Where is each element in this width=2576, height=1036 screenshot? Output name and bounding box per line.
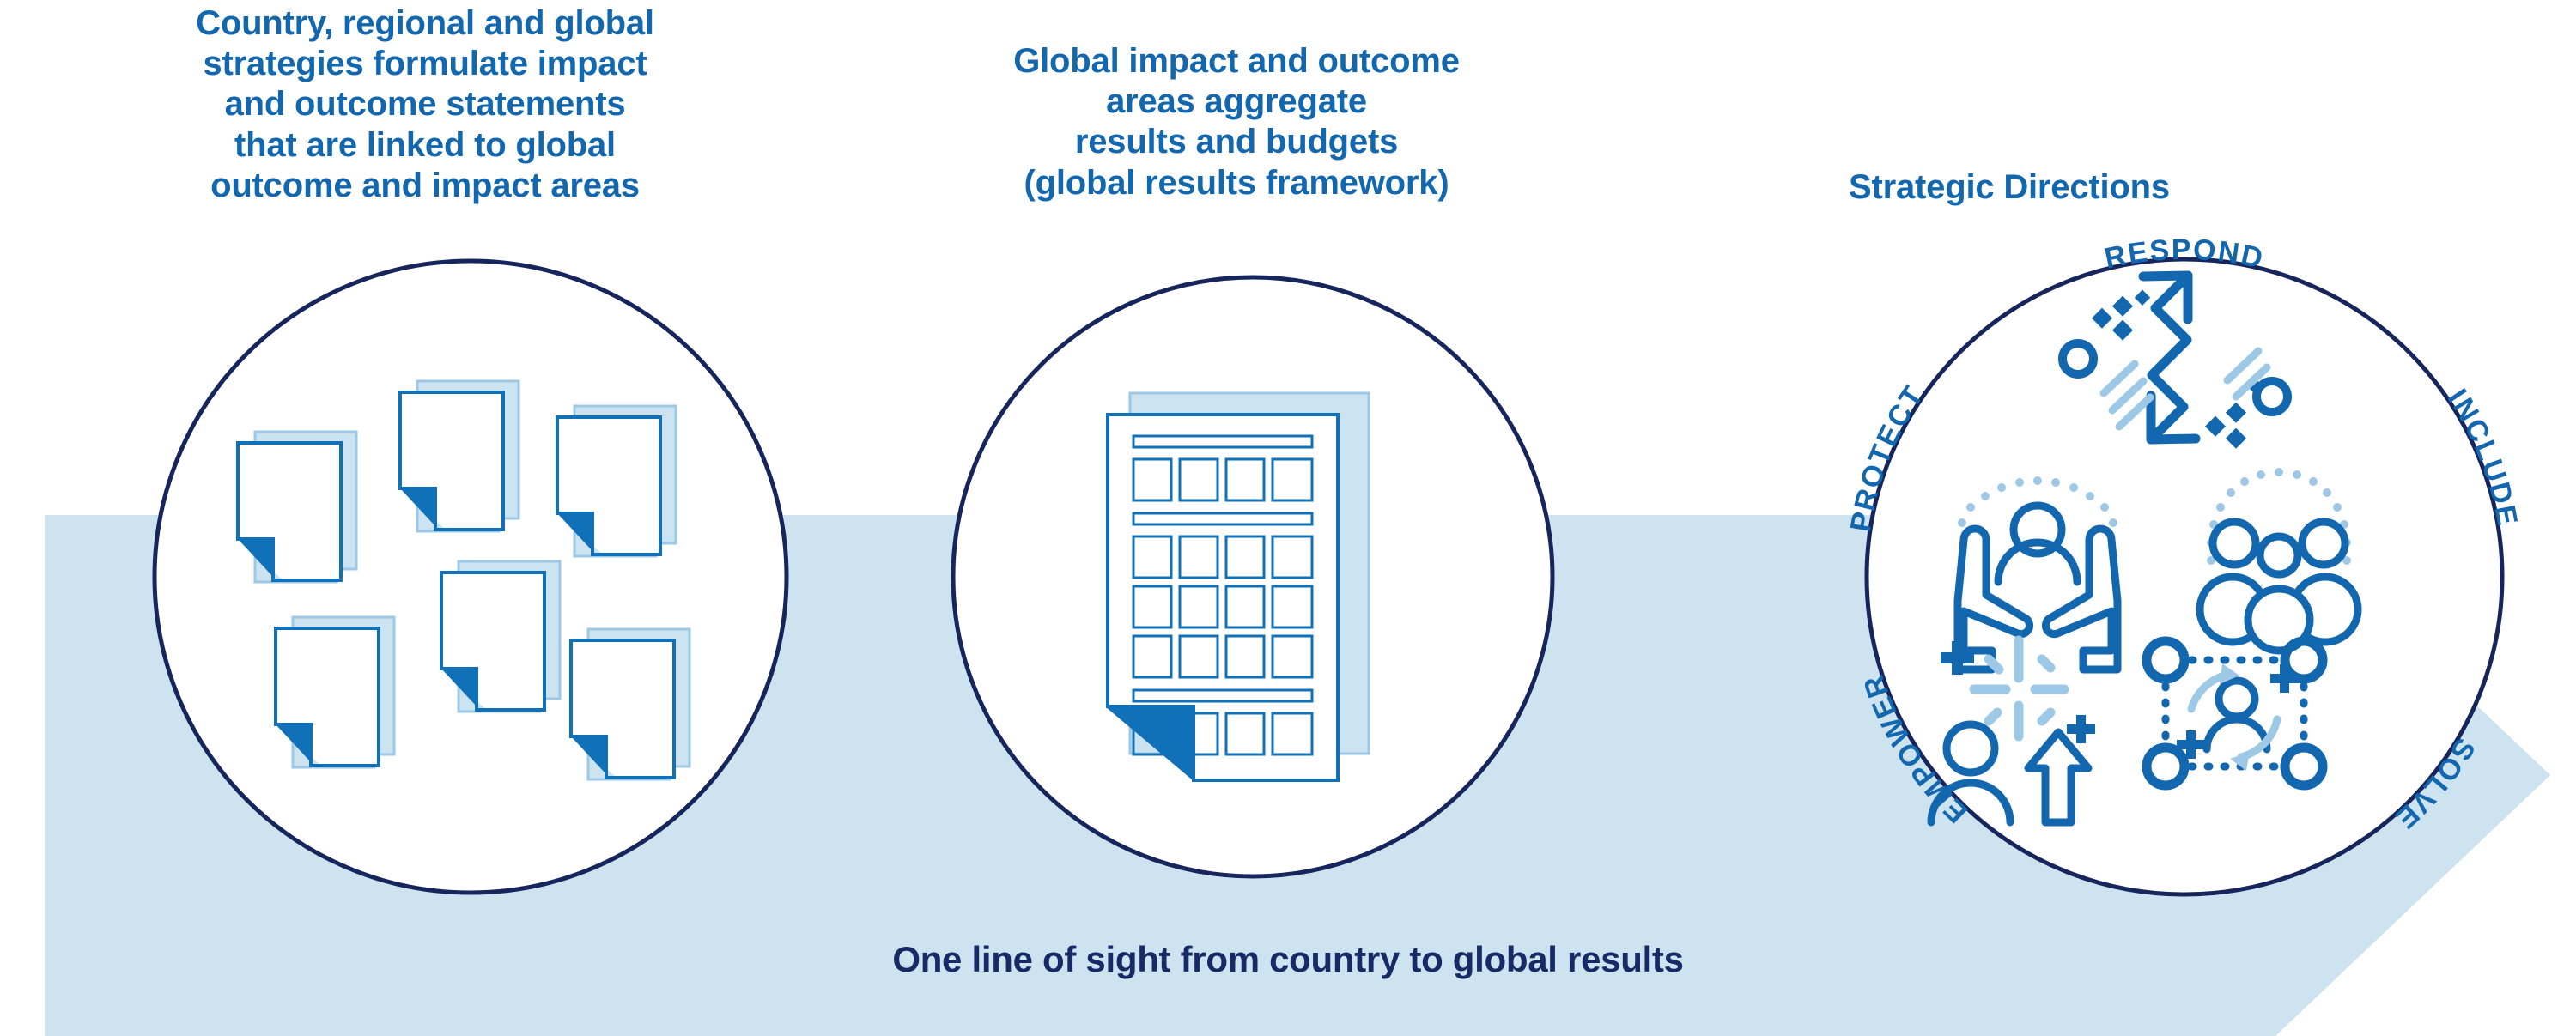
heading-strategic-directions: Strategic Directions [1769, 167, 2250, 208]
bottom-caption: One line of sight from country to global… [0, 939, 2576, 980]
heading-line: that are linked to global [94, 125, 756, 166]
heading-line: and outcome statements [94, 84, 756, 124]
heading-country-strategies: Country, regional and global strategies … [94, 3, 756, 206]
infographic-canvas: RESPOND PROTECT INCLUDE EMPOWER SOLVE [0, 0, 2576, 1036]
heading-line: outcome and impact areas [94, 166, 756, 206]
heading-line: Country, regional and global [94, 3, 756, 44]
heading-global-results-framework: Global impact and outcome areas aggregat… [923, 41, 1550, 203]
heading-line: areas aggregate [923, 82, 1550, 122]
heading-line: results and budgets [923, 122, 1550, 162]
heading-line: Global impact and outcome [923, 41, 1550, 82]
heading-line: strategies formulate impact [94, 44, 756, 84]
heading-line: (global results framework) [923, 163, 1550, 203]
